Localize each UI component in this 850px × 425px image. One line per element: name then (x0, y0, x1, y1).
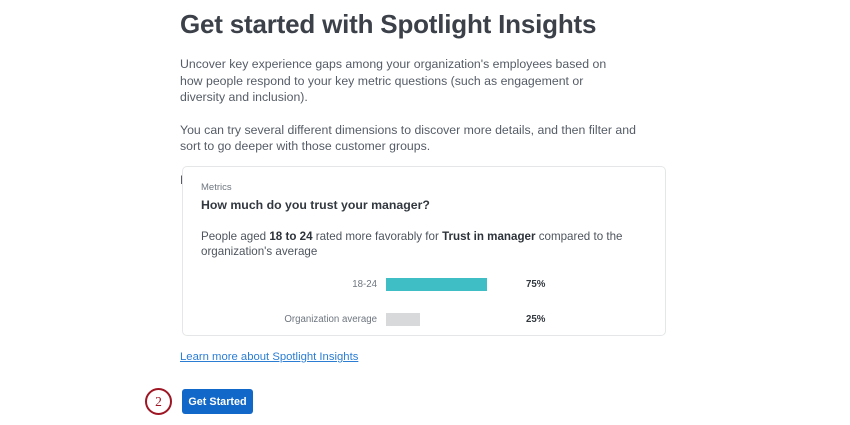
annotation-step-marker: 2 (145, 388, 172, 415)
get-started-button[interactable]: Get Started (182, 389, 253, 414)
bar-value-age-group: 75% (526, 279, 545, 290)
bar-row: 18-24 75% (201, 277, 647, 291)
desc-bold-age-group: 18 to 24 (269, 230, 312, 243)
learn-more-link[interactable]: Learn more about Spotlight Insights (180, 351, 358, 363)
page-title: Get started with Spotlight Insights (180, 8, 680, 40)
insight-example-card: Metrics How much do you trust your manag… (182, 166, 666, 336)
insight-description: People aged 18 to 24 rated more favorabl… (201, 229, 631, 259)
intro-paragraph-1: Uncover key experience gaps among your o… (180, 56, 628, 106)
bar-track (386, 313, 520, 326)
page-content: Get started with Spotlight Insights Unco… (180, 0, 680, 188)
desc-text-1: People aged (201, 230, 269, 243)
bar-row: Organization average 25% (201, 312, 647, 326)
metrics-label: Metrics (201, 182, 647, 194)
desc-bold-metric: Trust in manager (442, 230, 535, 243)
annotation-step-number: 2 (155, 394, 162, 410)
desc-text-2: rated more favorably for (313, 230, 443, 243)
bar-track (386, 278, 520, 291)
bar-label-age-group: 18-24 (201, 279, 386, 290)
insight-bar-chart: 18-24 75% Organization average 25% (201, 277, 647, 326)
insight-card-body: Metrics How much do you trust your manag… (183, 167, 665, 326)
bar-fill-age-group (386, 278, 487, 291)
bar-fill-org-average (386, 313, 420, 326)
metric-question: How much do you trust your manager? (201, 197, 647, 213)
bar-value-org-average: 25% (526, 314, 545, 325)
intro-paragraph-2: You can try several different dimensions… (180, 122, 640, 155)
bar-label-org-average: Organization average (201, 314, 386, 325)
